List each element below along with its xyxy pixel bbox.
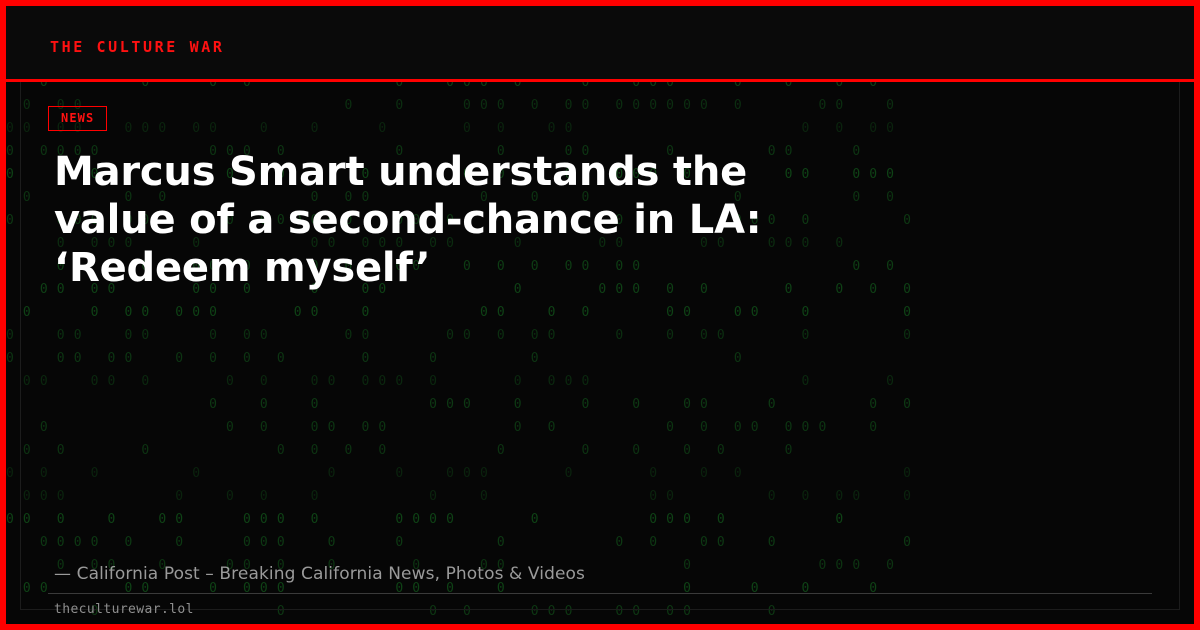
footer-site-url: theculturewar.lol: [54, 602, 194, 617]
source-attribution: — California Post – Breaking California …: [54, 564, 585, 584]
card-content: THE CULTURE WAR NEWS Marcus Smart unders…: [6, 6, 1194, 624]
social-share-card: 0 0 00 0 00000 0 00 0 0 0 0 0 0 0 0 0000…: [0, 0, 1200, 630]
footer-divider: [48, 593, 1152, 594]
category-badge-news: NEWS: [48, 106, 107, 131]
article-headline: Marcus Smart understands the value of a …: [54, 148, 854, 292]
site-header: THE CULTURE WAR: [6, 6, 1194, 82]
site-title: THE CULTURE WAR: [50, 38, 224, 56]
